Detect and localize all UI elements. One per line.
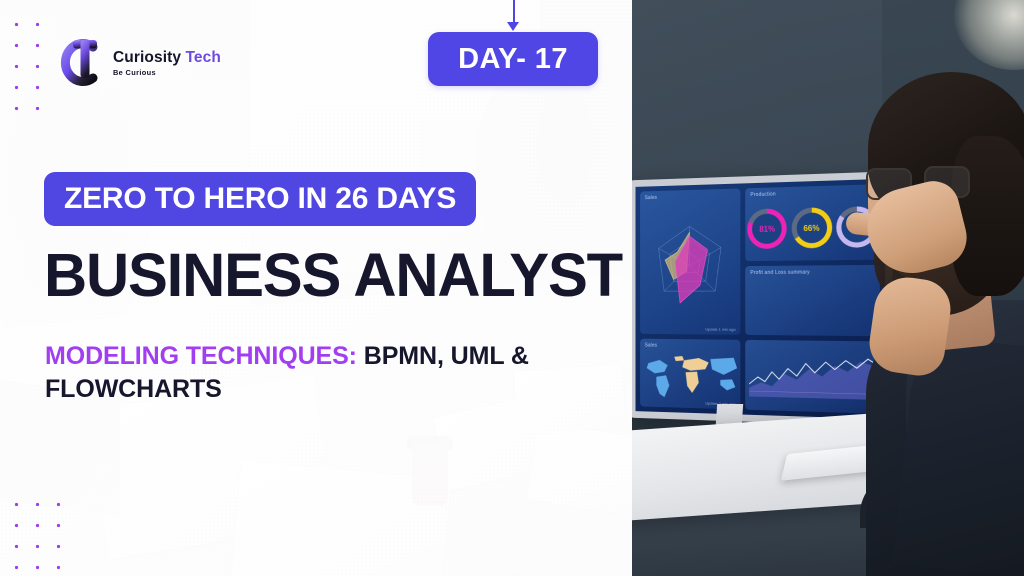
radar-chart-note: Update 1 min ago [705,327,735,332]
analyst-person [810,56,1024,576]
brand-name-primary: Curiosity [113,49,181,66]
brand-logo[interactable]: Curiosity Tech Be Curious [55,34,221,88]
day-badge[interactable]: DAY- 17 [428,32,598,86]
right-photo-panel: Sales [632,0,1024,576]
gauges-card-title: Production [750,191,776,198]
world-map-card: Sales Update 2 min ago [640,339,740,409]
arrow-down-icon-head [507,22,519,31]
course-duration-label: ZERO TO HERO IN 26 DAYS [64,182,456,216]
promo-banner: Curiosity Tech Be Curious DAY- 17 ZERO T… [0,0,1024,576]
topic-subtitle-highlight: MODELING TECHNIQUES: [45,342,357,370]
dot-grid-bottom-left-decoration [4,492,74,576]
day-badge-label: DAY- 17 [458,43,568,76]
course-duration-pill: ZERO TO HERO IN 26 DAYS [44,172,476,226]
brand-logo-text: Curiosity Tech Be Curious [113,46,221,77]
radar-chart-card: Sales [640,188,740,335]
radar-chart-graphic [649,219,730,310]
curiosity-tech-logo-icon [55,34,105,88]
dot-grid-top-left-decoration [4,12,52,124]
left-content-panel: Curiosity Tech Be Curious DAY- 17 ZERO T… [0,0,632,576]
page-title: BUSINESS ANALYST [44,243,622,309]
bar-chart-title: Profit and Loss summary [750,270,810,276]
person-hand-on-chin [866,273,955,379]
gauge-item: 81% [748,209,788,250]
radar-chart-title: Sales [645,195,658,201]
brand-name-secondary: Tech [186,49,221,66]
brand-tagline: Be Curious [113,69,221,76]
gauge-value-label: 81% [759,225,775,234]
world-map-title: Sales [645,343,658,349]
topic-subtitle: MODELING TECHNIQUES: BPMN, UML & FLOWCHA… [45,340,605,406]
world-map-graphic [642,350,741,405]
brand-name: Curiosity Tech [113,50,221,66]
person-hair-side [952,136,1024,296]
